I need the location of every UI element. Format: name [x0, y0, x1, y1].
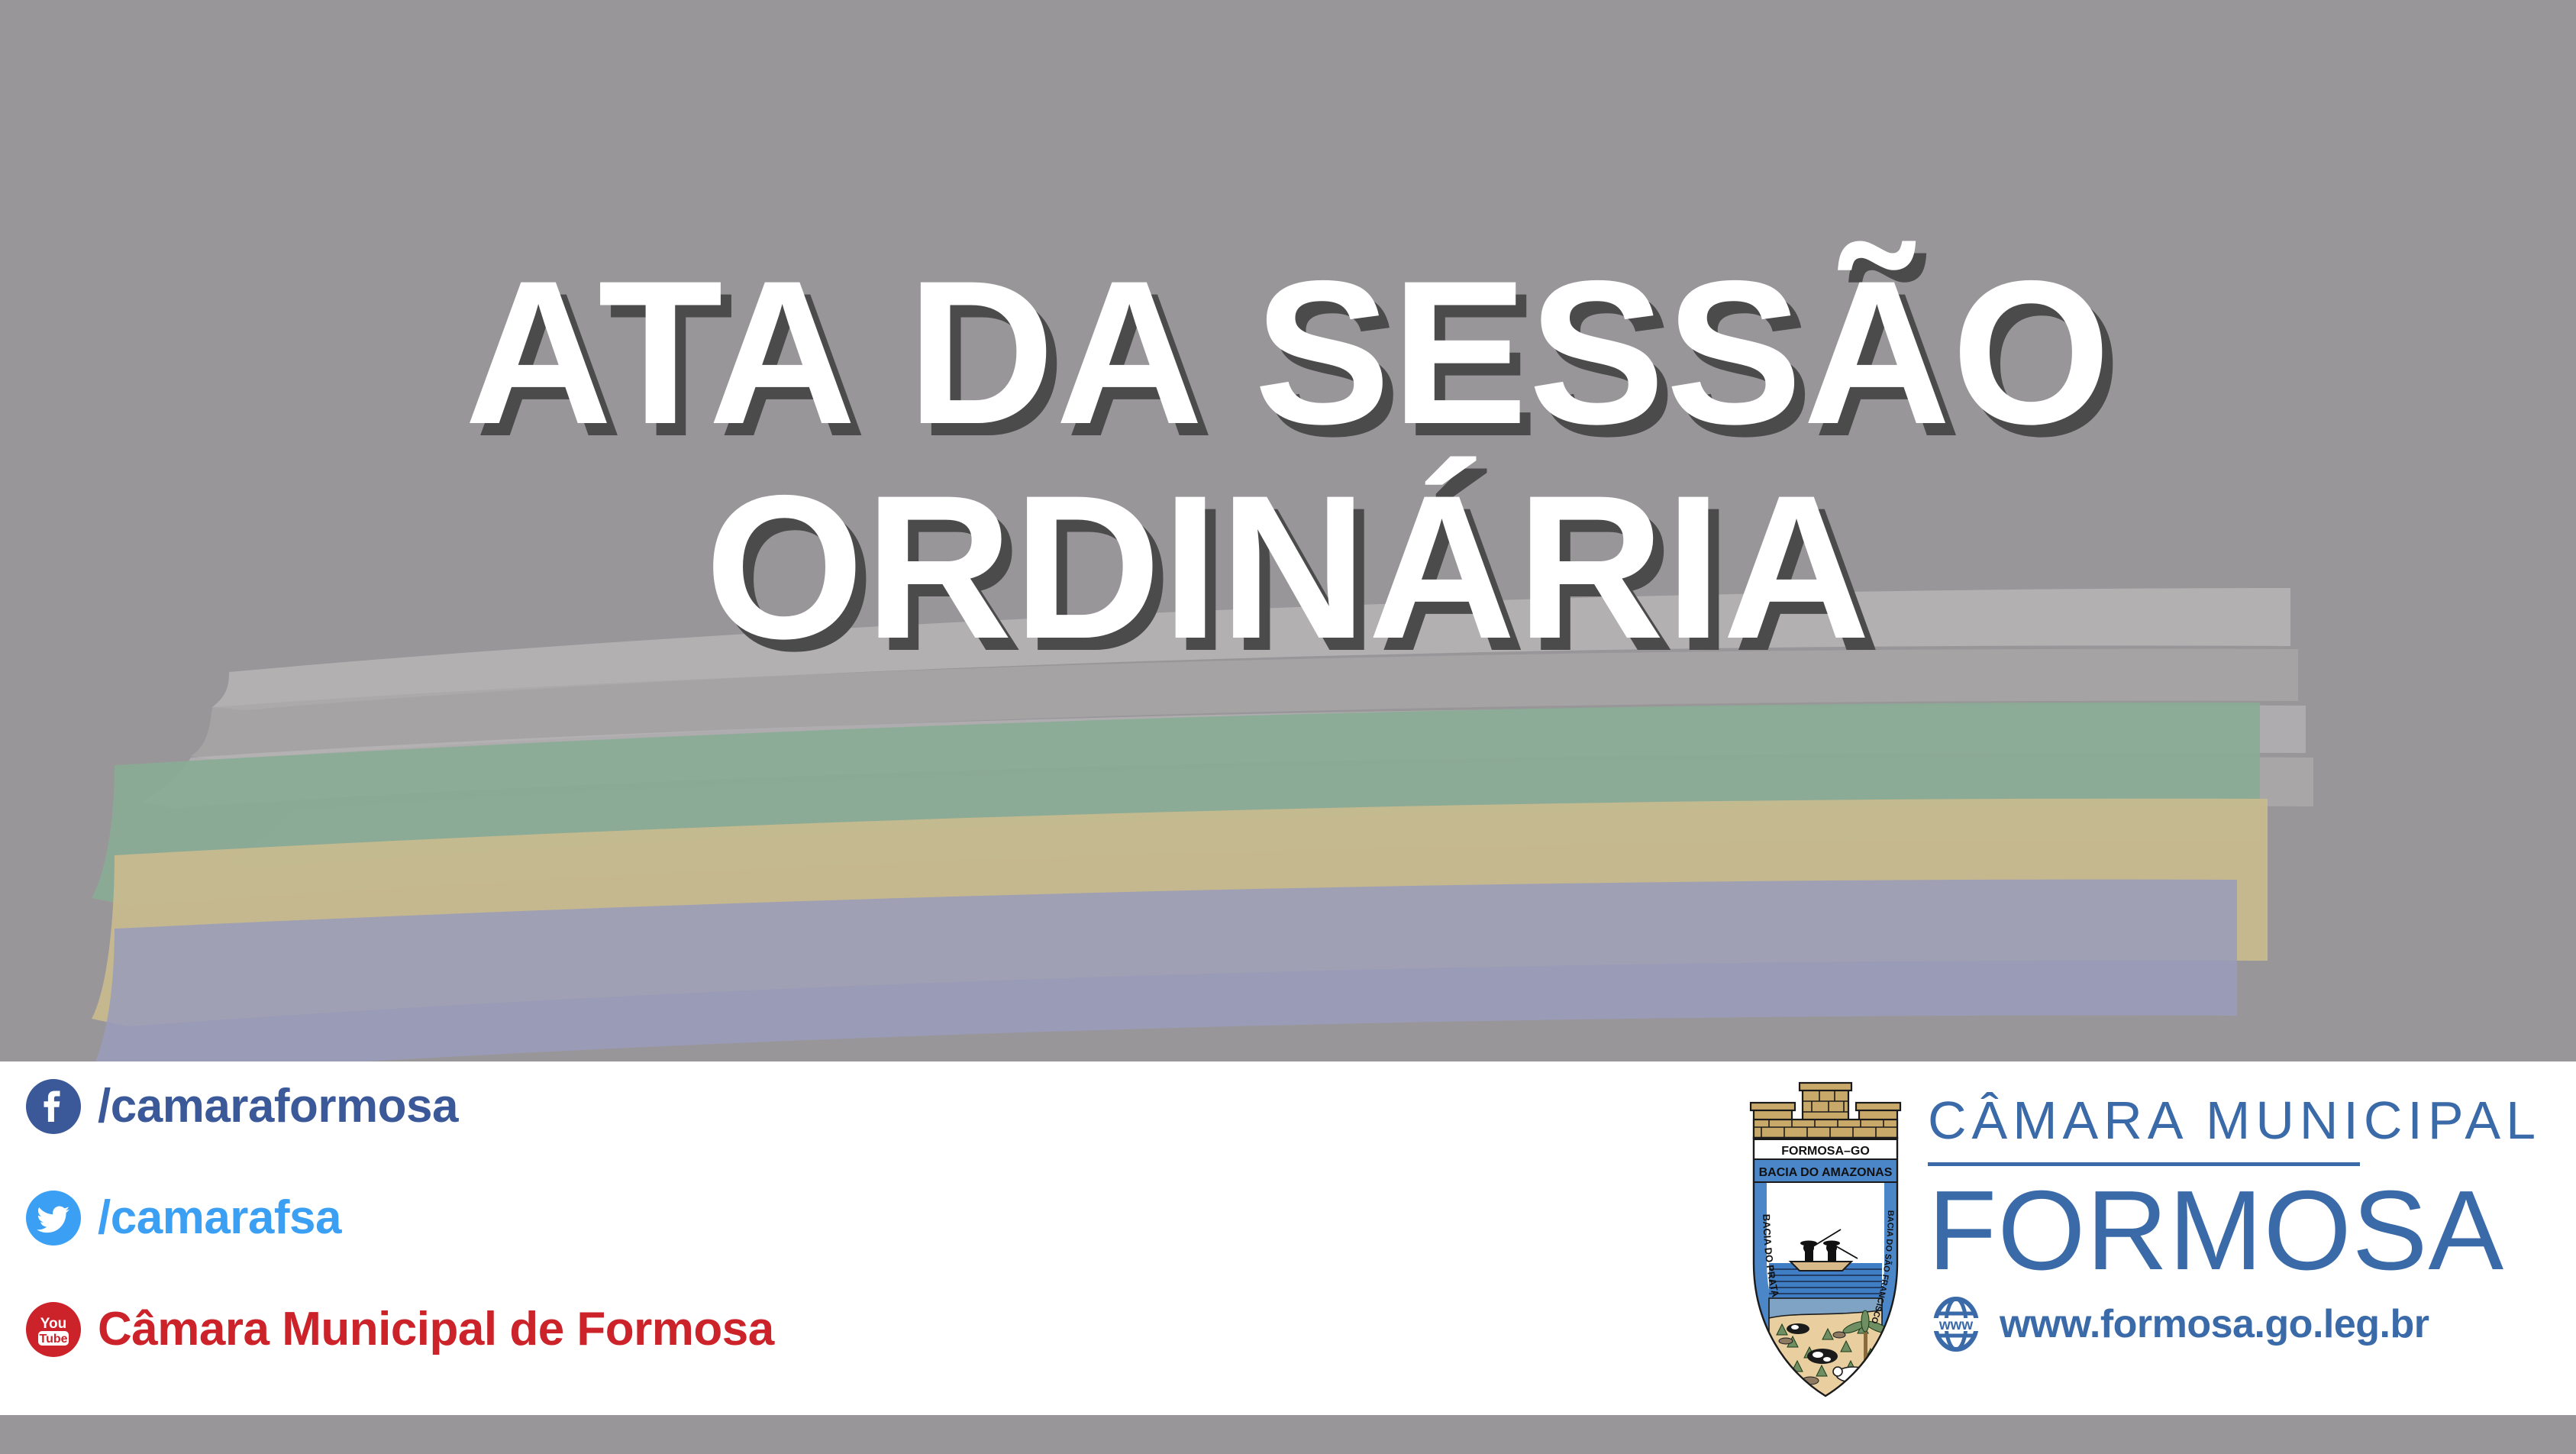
title-line-1: ATA DA SESSÃO [0, 252, 2576, 453]
svg-text:You: You [40, 1316, 66, 1332]
title-line-2: ORDINÁRIA [0, 467, 2576, 667]
crest-upper-band-text: BACIA DO AMAZONAS [1759, 1166, 1893, 1179]
brand-line-formosa: FORMOSA [1928, 1172, 2541, 1290]
brand-divider-rule [1928, 1162, 2360, 1166]
facebook-icon [26, 1079, 81, 1134]
website-url: www.formosa.go.leg.br [2000, 1301, 2429, 1347]
youtube-icon: You Tube [26, 1302, 81, 1357]
brand-block: FORMOSA–GO BACIA DO AMAZONAS [1743, 1072, 2541, 1401]
ribbon-green [92, 703, 2260, 906]
brand-line-camara-municipal: CÂMARA MUNICIPAL [1928, 1094, 2541, 1147]
twitter-handle: /camarafsa [98, 1194, 341, 1242]
slide-title: ATA DA SESSÃO ORDINÁRIA [0, 252, 2576, 667]
ribbon-gray-3 [142, 705, 2306, 808]
crest-top-banner-text: FORMOSA–GO [1781, 1145, 1870, 1158]
bottom-gray-strip [0, 1415, 2576, 1454]
website-row[interactable]: www www.formosa.go.leg.br [1928, 1296, 2541, 1352]
svg-text:www: www [1938, 1317, 1974, 1333]
crest-castle [1751, 1083, 1900, 1138]
ribbon-periwinkle [92, 880, 2237, 1077]
youtube-channel-name: Câmara Municipal de Formosa [98, 1306, 774, 1353]
social-link-twitter[interactable]: /camarafsa [26, 1190, 774, 1246]
brand-text-block: CÂMARA MUNICIPAL FORMOSA www www.formosa… [1928, 1072, 2541, 1352]
slide-canvas: ATA DA SESSÃO ORDINÁRIA /camaraformosa [0, 0, 2576, 1454]
social-links-list: /camaraformosa /camarafsa You Tube [26, 1078, 774, 1358]
twitter-icon [26, 1191, 81, 1246]
social-link-youtube[interactable]: You Tube Câmara Municipal de Formosa [26, 1301, 774, 1358]
facebook-handle: /camaraformosa [98, 1083, 458, 1130]
www-globe-icon: www [1928, 1296, 1984, 1352]
ribbon-gray-4 [223, 757, 2313, 868]
svg-text:Tube: Tube [39, 1333, 67, 1346]
ribbon-tan [92, 799, 2268, 1026]
social-link-facebook[interactable]: /camaraformosa [26, 1078, 774, 1135]
footer-bar: /camaraformosa /camarafsa You Tube [0, 1061, 2576, 1415]
formosa-coat-of-arms-icon: FORMOSA–GO BACIA DO AMAZONAS [1743, 1072, 1908, 1401]
